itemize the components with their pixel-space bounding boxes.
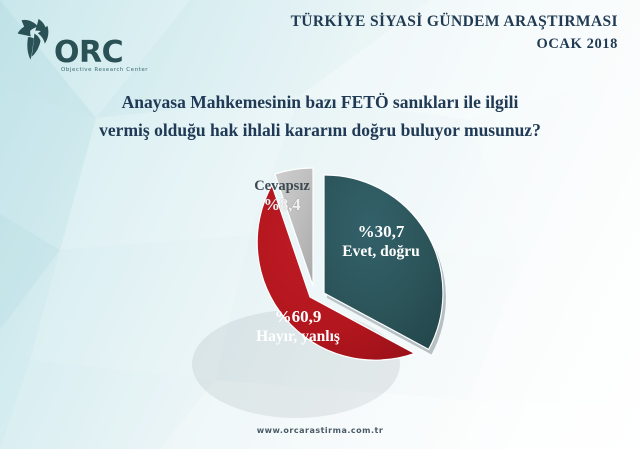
- orc-tagline: Objective Research Center: [61, 67, 148, 73]
- report-title: TÜRKİYE SİYASİ GÜNDEM ARAŞTIRMASI: [291, 12, 618, 33]
- poll-infographic: ORC Objective Research Center TÜRKİYE Sİ…: [0, 0, 640, 449]
- report-header: TÜRKİYE SİYASİ GÜNDEM ARAŞTIRMASI OCAK 2…: [291, 12, 618, 56]
- pie-chart: [168, 168, 468, 418]
- pie-chart-svg: [168, 168, 468, 418]
- poll-question-line-2: vermiş olduğu hak ihlali kararını doğru …: [18, 116, 622, 144]
- orc-logo: ORC Objective Research Center: [14, 16, 174, 78]
- report-date: OCAK 2018: [291, 33, 618, 56]
- footer-url: www.orcarastirma.com.tr: [0, 426, 640, 435]
- poll-question: Anayasa Mahkemesinin bazı FETÖ sanıkları…: [0, 88, 640, 145]
- orc-wordmark: ORC: [54, 38, 123, 68]
- poll-question-line-1: Anayasa Mahkemesinin bazı FETÖ sanıkları…: [18, 88, 622, 116]
